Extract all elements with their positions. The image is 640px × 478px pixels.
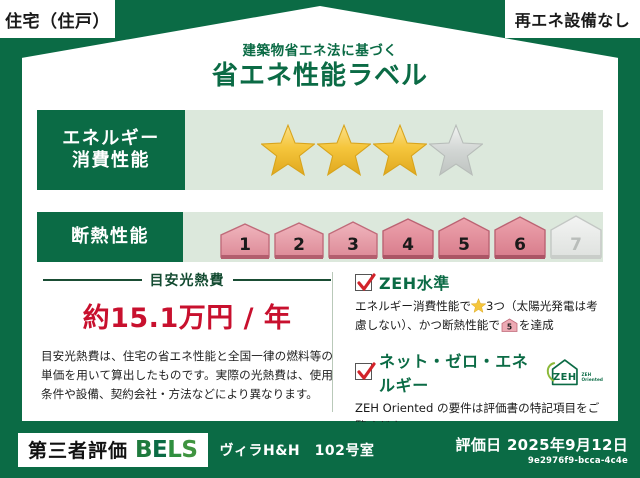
- zeh-logo: ZEH ZEH Oriented: [542, 357, 603, 386]
- star-filled-icon: [261, 124, 315, 176]
- zeh-house-logo-icon: ZEH: [542, 357, 580, 386]
- label-card: 建築物省エネ法に基づく 省エネ性能ラベル エネルギー 消費性能: [22, 6, 618, 421]
- zeh-note-part-c: を達成: [519, 318, 554, 332]
- insulation-level-2: 2: [273, 220, 325, 261]
- rule-left: [43, 279, 142, 281]
- zeh-column: ZEH水準 エネルギー消費性能で3つ（太陽光発電は考慮しない）、かつ断熱性能で …: [337, 270, 603, 415]
- checkbox-net-zero-energy[interactable]: [355, 363, 372, 380]
- energy-label-line1: エネルギー: [62, 128, 160, 151]
- rule-right: [233, 279, 332, 281]
- star-filled-icon: [317, 124, 371, 176]
- insulation-level-3: 3: [327, 219, 379, 261]
- insulation-level-6: 6: [493, 214, 547, 261]
- checkbox-zeh-standard[interactable]: [355, 274, 372, 291]
- third-party-evaluation-label: 第三者評価: [28, 436, 128, 463]
- insulation-level-5: 5: [437, 215, 491, 261]
- utility-cost-heading: 目安光熱費: [37, 270, 337, 290]
- insulation-performance-value: 1 2 3: [183, 212, 603, 262]
- column-divider: [332, 272, 333, 412]
- property-unit-name: ヴィラH&H 102号室: [220, 440, 375, 460]
- insulation-performance-label: 断熱性能: [37, 212, 183, 262]
- zeh-standard-title: ZEH水準: [379, 270, 450, 294]
- svg-text:3: 3: [347, 235, 359, 255]
- net-zero-energy-heading: ネット・ゼロ・エネルギー ZEH ZEH Oriented: [355, 348, 603, 396]
- utility-cost-heading-text: 目安光熱費: [150, 270, 225, 290]
- inline-insulation-badge-icon: 5: [501, 318, 518, 333]
- tag-building-type: 住宅（住戸）: [0, 0, 115, 38]
- energy-performance-label: エネルギー 消費性能: [37, 110, 185, 190]
- energy-label-line2: 消費性能: [72, 150, 150, 173]
- net-zero-energy-title: ネット・ゼロ・エネルギー: [379, 348, 533, 396]
- bels-logo-box: 第三者評価 BELS: [18, 433, 208, 467]
- insulation-level-7: 7: [549, 213, 603, 261]
- svg-text:1: 1: [239, 235, 251, 255]
- label-background: 住宅（住戸） 再エネ設備なし 建築物省エネ法に基づく 省エネ性能ラベル エネルギ…: [0, 0, 640, 478]
- label-title: 建築物省エネ法に基づく 省エネ性能ラベル: [22, 44, 618, 90]
- insulation-label-line1: 断熱性能: [71, 226, 149, 249]
- evaluation-date: 評価日 2025年9月12日: [456, 434, 628, 455]
- insulation-level-1: 1: [219, 221, 271, 261]
- utility-cost-column: 目安光熱費 約15.1万円 / 年 目安光熱費は、住宅の省エネ性能と全国一律の燃…: [37, 270, 337, 415]
- tag-renewable-energy: 再エネ設備なし: [505, 0, 640, 38]
- svg-text:ZEH: ZEH: [553, 372, 577, 383]
- lower-section: 目安光熱費 約15.1万円 / 年 目安光熱費は、住宅の省エネ性能と全国一律の燃…: [37, 270, 603, 415]
- title-main: 省エネ性能ラベル: [22, 63, 618, 90]
- bels-wordmark: BELS: [135, 437, 197, 463]
- evaluation-info: 評価日 2025年9月12日 9e2976f9-bcca-4c4e: [456, 434, 628, 466]
- check-icon: [355, 272, 377, 294]
- insulation-level-4: 4: [381, 216, 435, 261]
- zeh-note-part-a: エネルギー消費性能で: [355, 299, 471, 313]
- zeh-standard-block: ZEH水準 エネルギー消費性能で3つ（太陽光発電は考慮しない）、かつ断熱性能で …: [355, 270, 603, 335]
- svg-text:2: 2: [293, 235, 305, 255]
- energy-performance-row: エネルギー 消費性能: [37, 110, 603, 190]
- star-rating: [185, 124, 483, 176]
- insulation-level-scale: 1 2 3: [183, 213, 603, 261]
- svg-text:7: 7: [570, 235, 582, 255]
- footer-bar: 第三者評価 BELS ヴィラH&H 102号室 評価日 2025年9月12日 9…: [0, 422, 640, 478]
- zeh-oriented-caption: ZEH Oriented: [581, 373, 603, 386]
- svg-text:5: 5: [507, 322, 512, 331]
- utility-cost-note: 目安光熱費は、住宅の省エネ性能と全国一律の燃料等の単価を用いて算出したものです。…: [37, 347, 337, 403]
- utility-cost-value: 約15.1万円 / 年: [37, 296, 337, 335]
- star-empty-icon: [429, 124, 483, 176]
- evaluation-id: 9e2976f9-bcca-4c4e: [456, 456, 628, 466]
- energy-performance-value: [185, 110, 603, 190]
- zeh-standard-note: エネルギー消費性能で3つ（太陽光発電は考慮しない）、かつ断熱性能で 5を達成: [355, 297, 603, 335]
- insulation-performance-row: 断熱性能 1 2: [37, 212, 603, 262]
- svg-text:5: 5: [458, 235, 470, 255]
- check-icon: [355, 361, 377, 383]
- inline-star-icon: [471, 298, 486, 313]
- title-subtitle: 建築物省エネ法に基づく: [22, 44, 618, 59]
- svg-text:4: 4: [402, 235, 414, 255]
- svg-text:6: 6: [514, 235, 526, 255]
- star-filled-icon: [373, 124, 427, 176]
- zeh-standard-heading: ZEH水準: [355, 270, 603, 294]
